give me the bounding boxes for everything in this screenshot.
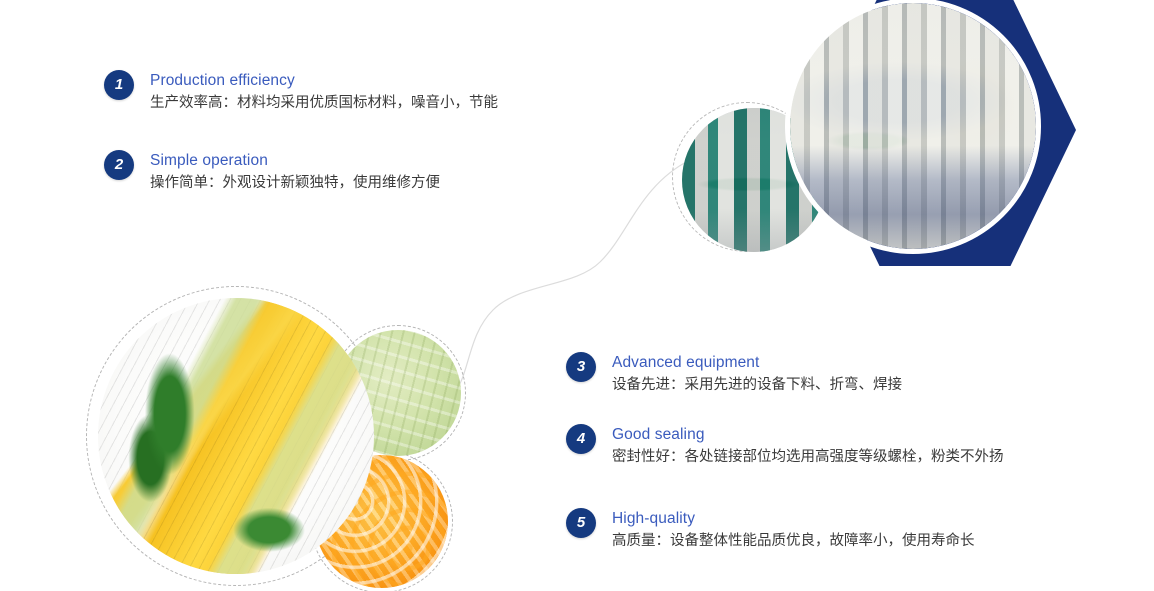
feature-item-3: 3 Advanced equipment 设备先进：采用先进的设备下料、折弯、焊… bbox=[566, 352, 902, 396]
feature-text-5: High-quality 高质量：设备整体性能品质优良，故障率小，使用寿命长 bbox=[612, 508, 975, 552]
corn-photo-group bbox=[86, 286, 486, 591]
feature-item-4: 4 Good sealing 密封性好：各处链接部位均选用高强度等级螺栓，粉类不… bbox=[566, 424, 1004, 468]
feature-item-5: 5 High-quality 高质量：设备整体性能品质优良，故障率小，使用寿命长 bbox=[566, 508, 975, 552]
feature-description-2: 操作简单：外观设计新颖独特，使用维修方便 bbox=[150, 172, 440, 194]
feature-description-4: 密封性好：各处链接部位均选用高强度等级螺栓，粉类不外扬 bbox=[612, 446, 1004, 468]
feature-title-4: Good sealing bbox=[612, 425, 1004, 445]
feature-infographic: 1 Production efficiency 生产效率高：材料均采用优质国标材… bbox=[0, 0, 1154, 591]
feature-title-1: Production efficiency bbox=[150, 71, 498, 91]
corn-cob-image bbox=[98, 298, 374, 574]
feature-item-1: 1 Production efficiency 生产效率高：材料均采用优质国标材… bbox=[104, 70, 498, 114]
feature-number-badge-5: 5 bbox=[566, 508, 596, 538]
feature-text-3: Advanced equipment 设备先进：采用先进的设备下料、折弯、焊接 bbox=[612, 352, 902, 396]
feature-number-badge-1: 1 bbox=[104, 70, 134, 100]
feature-title-5: High-quality bbox=[612, 509, 975, 529]
feature-description-3: 设备先进：采用先进的设备下料、折弯、焊接 bbox=[612, 374, 902, 396]
flour-milling-plant-photo bbox=[785, 0, 1041, 254]
feature-number-badge-3: 3 bbox=[566, 352, 596, 382]
feature-title-2: Simple operation bbox=[150, 151, 440, 171]
feature-title-3: Advanced equipment bbox=[612, 353, 902, 373]
flour-milling-plant-image bbox=[790, 3, 1036, 249]
feature-description-5: 高质量：设备整体性能品质优良，故障率小，使用寿命长 bbox=[612, 530, 975, 552]
feature-text-4: Good sealing 密封性好：各处链接部位均选用高强度等级螺栓，粉类不外扬 bbox=[612, 424, 1004, 468]
feature-text-1: Production efficiency 生产效率高：材料均采用优质国标材料，… bbox=[150, 70, 498, 114]
feature-text-2: Simple operation 操作简单：外观设计新颖独特，使用维修方便 bbox=[150, 150, 440, 194]
feature-number-badge-2: 2 bbox=[104, 150, 134, 180]
hexagon-photo-group bbox=[660, 0, 1154, 284]
feature-number-badge-4: 4 bbox=[566, 424, 596, 454]
corn-cob-photo bbox=[98, 298, 374, 574]
feature-description-1: 生产效率高：材料均采用优质国标材料，噪音小，节能 bbox=[150, 92, 498, 114]
feature-item-2: 2 Simple operation 操作简单：外观设计新颖独特，使用维修方便 bbox=[104, 150, 440, 194]
